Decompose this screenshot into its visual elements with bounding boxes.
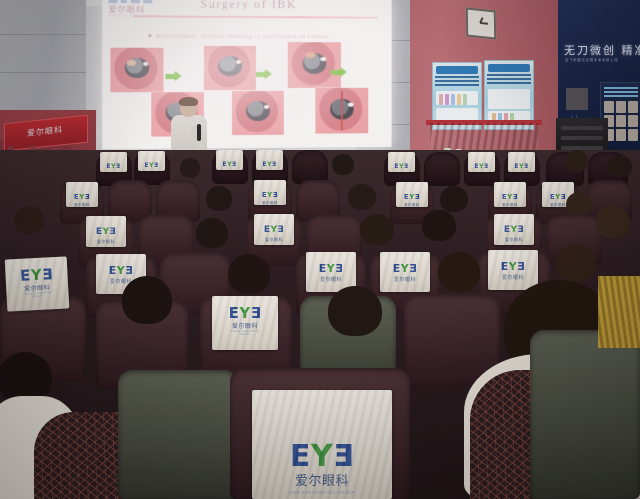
presenter-hair <box>179 97 198 106</box>
wall-sign-text: 爱尔眼科 <box>27 124 63 139</box>
curtain-yellow <box>598 276 640 348</box>
seat-cover: EYƎ 爱尔眼科 <box>254 180 286 205</box>
eye-figure-6 <box>315 88 368 134</box>
audience-head <box>14 206 44 234</box>
audience-head <box>348 184 376 210</box>
seat-cover-foreground: EYƎ 爱尔眼科 AIER EYE HOSPITAL GROUP <box>252 390 392 499</box>
seat <box>118 370 238 499</box>
eye-figure-4 <box>232 91 284 135</box>
eye-figure-3 <box>204 46 256 90</box>
eye-figure-1 <box>110 48 163 93</box>
slide-title: Surgery of IBK <box>102 0 391 13</box>
audience-head <box>122 276 172 324</box>
seat-cover: EYƎ 爱尔眼科 <box>468 152 495 172</box>
seat-cover: EYƎ 爱尔眼科 AIER EYE HOSPITAL GROUP <box>5 256 70 311</box>
audience-head <box>228 254 270 294</box>
flow-arrow-3-icon <box>331 66 347 79</box>
seat-cover: EYƎ 爱尔眼科 <box>86 216 126 247</box>
audience-head <box>556 244 596 282</box>
seat-cover: EYƎ 爱尔眼科 <box>256 150 283 170</box>
seat-cover: EYƎ 爱尔眼科 <box>216 150 243 170</box>
audience-head <box>608 155 632 177</box>
seat-cover: EYƎ 爱尔眼科 <box>494 182 526 207</box>
projection-screen: 爱尔眼科 AIER EYE HOSPITAL GROUP Surgery of … <box>102 0 391 149</box>
conference-hall-photo: 爱尔眼科 AIER EYE HOSPITAL GROUP Surgery of … <box>0 0 640 499</box>
slide-divider <box>133 15 378 18</box>
seat-cover: EYƎ 爱尔眼科 AIER EYE HOSPITAL GROUP <box>212 296 278 350</box>
microphone-icon <box>197 124 201 141</box>
seat-cover: EYƎ 爱尔眼科 <box>138 151 165 171</box>
audience-head <box>422 210 456 241</box>
audience-head <box>196 218 228 248</box>
seat-cover: EYƎ 爱尔眼科 <box>396 182 428 207</box>
seat-cover: EYƎ 爱尔眼科 <box>388 152 415 172</box>
qr-code-icon <box>566 88 588 110</box>
audience-head <box>332 154 354 175</box>
seat-cover: EYƎ 爱尔眼科 <box>494 214 534 245</box>
seat-cover: EYƎ 爱尔眼科 <box>508 152 535 172</box>
seat-cover: EYƎ 爱尔眼科 <box>380 252 430 292</box>
audience-head <box>440 186 468 212</box>
banner-headline: 无刀微创 精准 <box>564 42 640 58</box>
banner-subline: 全飞秒激光近视手术全新上线 <box>565 58 618 63</box>
audience-head <box>596 206 630 238</box>
audience-head <box>566 150 588 172</box>
seat-cover: EYƎ 爱尔眼科 <box>66 182 98 207</box>
audience-head <box>328 286 382 336</box>
audience-head <box>180 158 200 178</box>
slide-bullet-line: ➤Keratoplasty: obvious thinning or perfo… <box>147 32 327 41</box>
seat-cover: EYƎ 爱尔眼科 <box>254 214 294 245</box>
flow-arrow-1-icon <box>166 70 182 83</box>
bullet-arrow-icon: ➤ <box>147 33 153 40</box>
audience-head <box>360 214 394 245</box>
eye-figure-5 <box>288 42 341 88</box>
wall-clock-icon <box>466 7 497 39</box>
seat <box>424 152 460 186</box>
seat <box>530 330 640 499</box>
seat <box>292 150 328 184</box>
slide-bullet-text: Keratoplasty: obvious thinning or perfor… <box>156 33 327 41</box>
audience-head <box>206 186 232 211</box>
flow-arrow-2-icon <box>256 68 272 81</box>
seat-cover: EYƎ 爱尔眼科 <box>100 152 127 172</box>
